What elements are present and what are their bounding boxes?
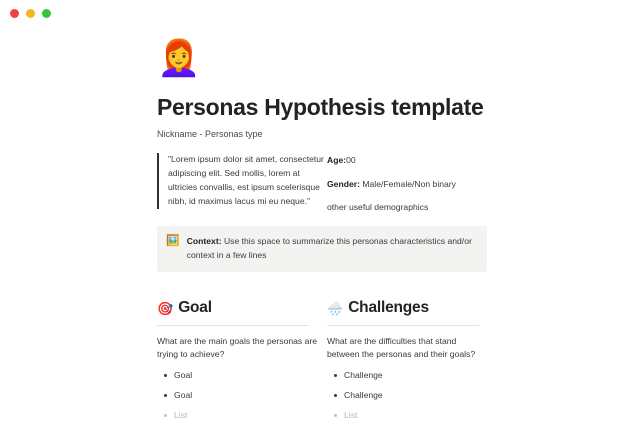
demographic-age-value: 00 (346, 155, 356, 165)
section-goal: 🎯 Goal What are the main goals the perso… (157, 299, 327, 421)
persona-quote-column: "Lorem ipsum dolor sit amet, consectetur… (157, 153, 327, 209)
picture-frame-icon: 🖼️ (166, 235, 180, 249)
persona-info-row: "Lorem ipsum dolor sit amet, consectetur… (157, 153, 487, 213)
section-challenges-title[interactable]: Challenges (348, 299, 429, 317)
demographic-age[interactable]: Age:00 (327, 154, 487, 166)
window-controls (10, 9, 51, 18)
persona-avatar-icon[interactable]: 👩‍🦰 (157, 41, 487, 85)
section-challenges-list: Challenge Challenge List (327, 370, 487, 421)
section-challenges-divider (327, 325, 479, 326)
document-content: 👩‍🦰 Personas Hypothesis template Nicknam… (157, 28, 487, 421)
page-subtitle[interactable]: Nickname - Personas type (157, 129, 487, 141)
section-goal-title[interactable]: Goal (178, 299, 212, 317)
demographic-gender-label: Gender: (327, 179, 360, 189)
demographic-gender[interactable]: Gender: Male/Female/Non binary (327, 178, 487, 190)
context-callout-body: Use this space to summarize this persona… (187, 236, 472, 259)
close-button[interactable] (10, 9, 19, 18)
document-page: 👩‍🦰 Personas Hypothesis template Nicknam… (0, 28, 640, 400)
section-goal-divider (157, 325, 309, 326)
demographic-gender-value: Male/Female/Non binary (360, 179, 456, 189)
minimize-button[interactable] (26, 9, 35, 18)
list-item[interactable]: Challenge (327, 370, 487, 381)
list-item-placeholder[interactable]: List (327, 410, 487, 421)
section-goal-description[interactable]: What are the main goals the personas are… (157, 335, 327, 362)
context-callout-text: Context: Use this space to summarize thi… (187, 235, 476, 262)
dart-target-icon: 🎯 (157, 302, 173, 315)
demographic-other[interactable]: other useful demographics (327, 201, 487, 213)
maximize-button[interactable] (42, 9, 51, 18)
section-challenges-description[interactable]: What are the difficulties that stand bet… (327, 335, 487, 362)
page-title[interactable]: Personas Hypothesis template (157, 94, 487, 120)
demographic-age-label: Age: (327, 155, 346, 165)
section-challenges: 🌧️ Challenges What are the difficulties … (327, 299, 487, 421)
context-callout-label: Context: (187, 236, 222, 246)
context-callout[interactable]: 🖼️ Context: Use this space to summarize … (157, 226, 487, 272)
persona-quote[interactable]: "Lorem ipsum dolor sit amet, consectetur… (157, 153, 327, 209)
rain-cloud-icon: 🌧️ (327, 302, 343, 315)
list-item[interactable]: Goal (157, 390, 327, 401)
window-titlebar (0, 0, 640, 28)
persona-demographics-column: Age:00 Gender: Male/Female/Non binary ot… (327, 153, 487, 213)
list-item[interactable]: Challenge (327, 390, 487, 401)
list-item-placeholder[interactable]: List (157, 410, 327, 421)
section-goal-header: 🎯 Goal (157, 299, 327, 317)
list-item[interactable]: Goal (157, 370, 327, 381)
section-goal-list: Goal Goal List (157, 370, 327, 421)
section-challenges-header: 🌧️ Challenges (327, 299, 487, 317)
sections-row: 🎯 Goal What are the main goals the perso… (157, 299, 487, 421)
